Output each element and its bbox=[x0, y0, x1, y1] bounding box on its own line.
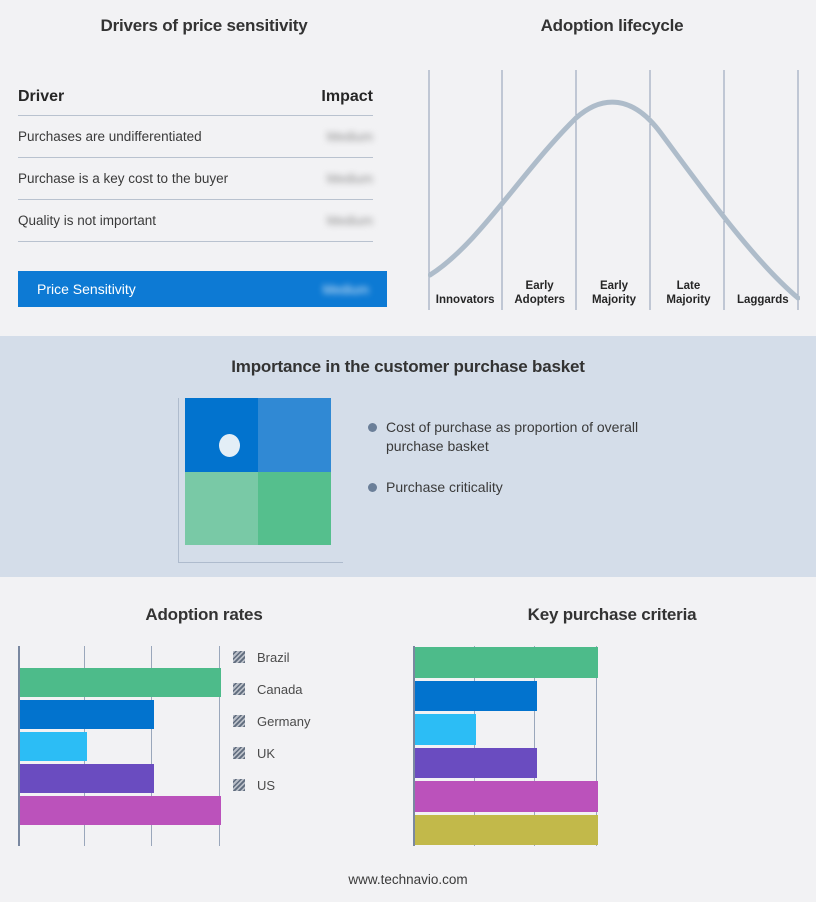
matrix-quadrants bbox=[185, 398, 331, 545]
adoption-rates-title: Adoption rates bbox=[0, 605, 408, 625]
segment-line-2: Adopters bbox=[514, 293, 564, 307]
bar bbox=[20, 732, 87, 761]
bar-slot bbox=[415, 681, 598, 712]
bar bbox=[415, 714, 476, 745]
column-header-driver: Driver bbox=[18, 88, 64, 106]
lifecycle-segment-late-majority: Late Majority bbox=[651, 268, 725, 310]
legend-label: Germany bbox=[257, 714, 310, 729]
purchase-criteria-panel: Key purchase criteria InnovationPriceQua… bbox=[408, 577, 816, 902]
price-sensitivity-impact: Medium bbox=[323, 282, 369, 297]
footer-url: www.technavio.com bbox=[0, 872, 816, 887]
bar bbox=[415, 647, 598, 678]
adoption-rates-legend: BrazilCanadaGermanyUKUS bbox=[233, 641, 310, 801]
bar-slot bbox=[20, 668, 221, 697]
bar-slot bbox=[415, 748, 598, 779]
lifecycle-panel: Adoption lifecycle Innovators Early Adop… bbox=[408, 0, 816, 336]
quadrant-bottom-right bbox=[258, 472, 331, 546]
legend-label: Canada bbox=[257, 682, 303, 697]
legend-label: US bbox=[257, 778, 275, 793]
adoption-rates-chart bbox=[18, 646, 221, 846]
lifecycle-segment-innovators: Innovators bbox=[428, 268, 502, 310]
bar-slot bbox=[20, 732, 221, 761]
segment-line-2: Innovators bbox=[436, 293, 495, 307]
bar-slot bbox=[415, 647, 598, 678]
segment-line-2: Laggards bbox=[737, 293, 789, 307]
bar bbox=[415, 815, 598, 846]
bottom-row: Adoption rates BrazilCanadaGermanyUKUS K… bbox=[0, 577, 816, 902]
drivers-panel: Drivers of price sensitivity Driver Impa… bbox=[0, 0, 408, 336]
table-row: Purchases are undifferentiated Medium bbox=[18, 116, 373, 158]
price-sensitivity-highlight-row: Price Sensitivity Medium bbox=[18, 271, 387, 307]
segment-line-1: Late bbox=[677, 279, 701, 293]
legend-item: Purchase criticality bbox=[368, 478, 668, 497]
impact-value: Medium bbox=[327, 171, 373, 186]
bullet-dot-icon bbox=[368, 423, 377, 432]
driver-label: Quality is not important bbox=[18, 213, 156, 228]
quadrant-top-left bbox=[185, 398, 258, 472]
hatched-swatch-icon bbox=[233, 747, 245, 759]
price-sensitivity-label: Price Sensitivity bbox=[37, 281, 136, 297]
hatched-swatch-icon bbox=[233, 715, 245, 727]
legend-label: Brazil bbox=[257, 650, 290, 665]
legend-item: UK bbox=[233, 737, 310, 769]
legend-label: Purchase criticality bbox=[386, 478, 503, 497]
purchase-basket-legend: Cost of purchase as proportion of overal… bbox=[368, 418, 668, 519]
top-row: Drivers of price sensitivity Driver Impa… bbox=[0, 0, 816, 336]
adoption-rates-panel: Adoption rates BrazilCanadaGermanyUKUS bbox=[0, 577, 408, 902]
matrix-y-axis bbox=[178, 398, 179, 563]
quadrant-matrix-chart bbox=[178, 398, 343, 563]
bar bbox=[415, 748, 537, 779]
driver-label: Purchase is a key cost to the buyer bbox=[18, 171, 228, 186]
lifecycle-segment-laggards: Laggards bbox=[726, 268, 800, 310]
bar-series bbox=[20, 646, 221, 846]
purchase-basket-title: Importance in the customer purchase bask… bbox=[0, 357, 816, 377]
legend-item: US bbox=[233, 769, 310, 801]
bar-slot bbox=[415, 714, 598, 745]
purchase-criteria-title: Key purchase criteria bbox=[408, 605, 816, 625]
legend-item: Germany bbox=[233, 705, 310, 737]
bar-slot bbox=[20, 700, 221, 729]
legend-label: UK bbox=[257, 746, 275, 761]
lifecycle-segment-labels: Innovators Early Adopters Early Majority… bbox=[428, 268, 800, 310]
bar bbox=[20, 700, 154, 729]
bullet-dot-icon bbox=[368, 483, 377, 492]
table-row: Purchase is a key cost to the buyer Medi… bbox=[18, 158, 373, 200]
bar bbox=[20, 764, 154, 793]
matrix-x-axis bbox=[178, 562, 343, 563]
legend-item: Brazil bbox=[233, 641, 310, 673]
bar-series bbox=[415, 646, 598, 846]
hatched-swatch-icon bbox=[233, 651, 245, 663]
hatched-swatch-icon bbox=[233, 779, 245, 791]
bar bbox=[415, 681, 537, 712]
drivers-table: Driver Impact Purchases are undifferenti… bbox=[18, 88, 373, 242]
matrix-position-marker bbox=[219, 434, 240, 457]
table-row: Quality is not important Medium bbox=[18, 200, 373, 242]
legend-item: Cost of purchase as proportion of overal… bbox=[368, 418, 668, 456]
segment-line-2: Majority bbox=[666, 293, 710, 307]
legend-item: Canada bbox=[233, 673, 310, 705]
bar-slot bbox=[20, 764, 221, 793]
lifecycle-title: Adoption lifecycle bbox=[408, 16, 816, 36]
column-header-impact: Impact bbox=[321, 88, 373, 106]
hatched-swatch-icon bbox=[233, 683, 245, 695]
quadrant-bottom-left bbox=[185, 472, 258, 546]
legend-label: Cost of purchase as proportion of overal… bbox=[386, 418, 668, 456]
lifecycle-segment-early-adopters: Early Adopters bbox=[502, 268, 576, 310]
lifecycle-segment-early-majority: Early Majority bbox=[577, 268, 651, 310]
bar bbox=[20, 796, 221, 825]
bar bbox=[20, 668, 221, 697]
bar-slot bbox=[415, 781, 598, 812]
purchase-basket-panel: Importance in the customer purchase bask… bbox=[0, 336, 816, 577]
driver-label: Purchases are undifferentiated bbox=[18, 129, 202, 144]
segment-line-1: Early bbox=[600, 279, 628, 293]
drivers-title: Drivers of price sensitivity bbox=[0, 16, 408, 36]
quadrant-top-right bbox=[258, 398, 331, 472]
bar-slot bbox=[415, 815, 598, 846]
segment-line-2: Majority bbox=[592, 293, 636, 307]
segment-line-1: Early bbox=[526, 279, 554, 293]
impact-value: Medium bbox=[327, 129, 373, 144]
purchase-criteria-chart bbox=[413, 646, 598, 846]
table-header-row: Driver Impact bbox=[18, 88, 373, 116]
bar-slot bbox=[20, 796, 221, 825]
bar bbox=[415, 781, 598, 812]
impact-value: Medium bbox=[327, 213, 373, 228]
